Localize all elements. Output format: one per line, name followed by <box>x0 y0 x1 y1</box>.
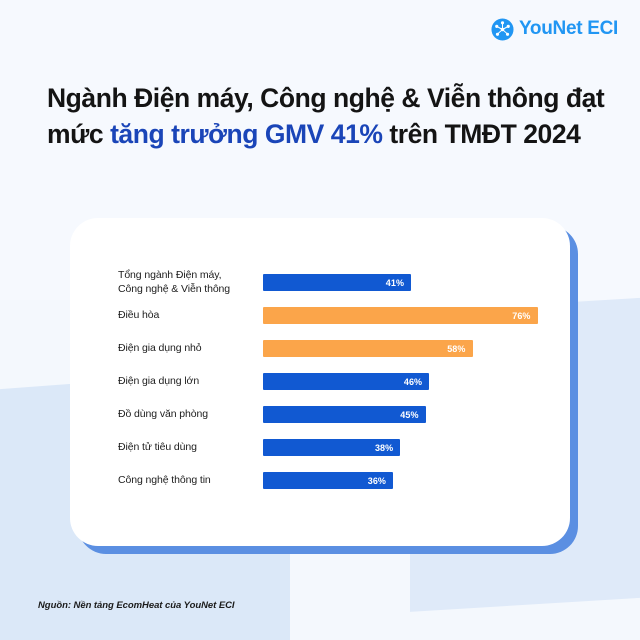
chart-row: Công nghệ thông tin36% <box>118 464 552 497</box>
chart-row: Đồ dùng văn phòng45% <box>118 398 552 431</box>
infographic-poster: YouNet ECI Ngành Điện máy, Công nghệ & V… <box>0 0 640 640</box>
source-note: Nguồn: Nền tảng EcomHeat của YouNet ECI <box>38 600 235 611</box>
bar-value-label: 45% <box>400 410 418 420</box>
bar[interactable]: 36% <box>263 472 393 489</box>
page-title: Ngành Điện máy, Công nghệ & Viễn thông đ… <box>47 80 607 152</box>
bar-track: 41% <box>263 266 552 299</box>
bar-value-label: 46% <box>404 377 422 387</box>
bar-track: 45% <box>263 398 552 431</box>
brand-logo-text: YouNet ECI <box>519 18 618 40</box>
chart-card: Tổng ngành Điện máy,Công nghệ & Viễn thô… <box>70 218 570 546</box>
bar-value-label: 36% <box>368 476 386 486</box>
bar-track: 38% <box>263 431 552 464</box>
chart-row: Điện tử tiêu dùng38% <box>118 431 552 464</box>
headline-highlight: tăng trưởng GMV 41% <box>110 119 382 149</box>
bar-value-label: 76% <box>512 311 530 321</box>
headline-part-3: trên TMĐT 2024 <box>382 119 580 149</box>
bar-label: Điện gia dụng lớn <box>118 375 263 388</box>
bar-label: Điện gia dụng nhỏ <box>118 342 263 355</box>
bar-track: 46% <box>263 365 552 398</box>
bar-track: 36% <box>263 464 552 497</box>
bar-label: Đồ dùng văn phòng <box>118 408 263 421</box>
bar-value-label: 41% <box>386 278 404 288</box>
bar[interactable]: 46% <box>263 373 429 390</box>
chart-row: Điện gia dụng lớn46% <box>118 365 552 398</box>
bar-value-label: 58% <box>447 344 465 354</box>
chart-row: Điện gia dụng nhỏ58% <box>118 332 552 365</box>
bar[interactable]: 76% <box>263 307 538 324</box>
brand-logo: YouNet ECI <box>491 16 618 42</box>
headline-part-1: Ngành Điện máy, Công nghệ & Viễn <box>47 83 488 113</box>
chart-row: Điều hòa76% <box>118 299 552 332</box>
younet-network-circle-icon <box>491 18 514 41</box>
bar-label: Tổng ngành Điện máy,Công nghệ & Viễn thô… <box>118 269 263 296</box>
bar[interactable]: 41% <box>263 274 411 291</box>
bar-label: Điều hòa <box>118 309 263 322</box>
bar-track: 76% <box>263 299 552 332</box>
bar-value-label: 38% <box>375 443 393 453</box>
bar-label: Điện tử tiêu dùng <box>118 441 263 454</box>
bar-label-line2: Công nghệ & Viễn thông <box>118 283 230 295</box>
bar-track: 58% <box>263 332 552 365</box>
bar[interactable]: 45% <box>263 406 426 423</box>
bar-label: Công nghệ thông tin <box>118 474 263 487</box>
bar-chart: Tổng ngành Điện máy,Công nghệ & Viễn thô… <box>118 266 552 506</box>
bar[interactable]: 38% <box>263 439 400 456</box>
chart-row: Tổng ngành Điện máy,Công nghệ & Viễn thô… <box>118 266 552 299</box>
bar[interactable]: 58% <box>263 340 473 357</box>
